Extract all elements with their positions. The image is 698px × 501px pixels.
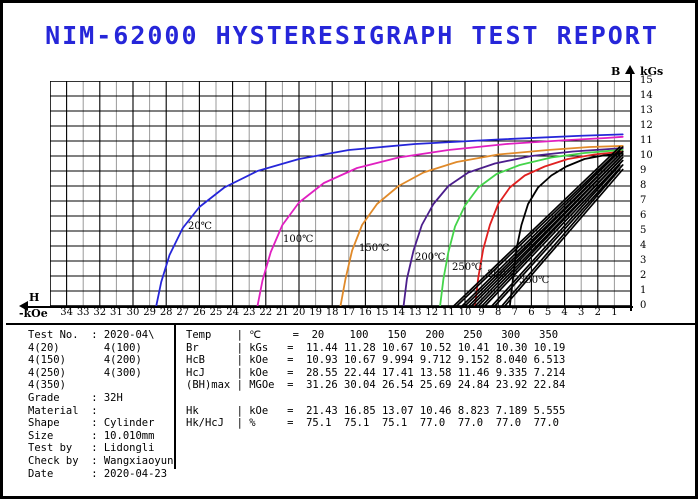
result-row-hcb: HcB | kOe = 10.93 10.67 9.994 9.712 9.15…	[186, 354, 577, 367]
curve-label-5: 300℃	[487, 269, 517, 280]
result-row-hkhcj: Hk/HcJ | % = 75.1 75.1 75.1 77.0 77.0 77…	[186, 417, 577, 430]
y-tick-8: 8	[640, 180, 646, 191]
x-axis-unit-label: -kOe	[19, 307, 48, 320]
x-tick-33: 33	[74, 307, 92, 318]
y-tick-3: 3	[640, 255, 646, 266]
info-row-11: Date : 2020-04-23	[28, 468, 173, 481]
x-tick-9: 9	[473, 307, 491, 318]
y-tick-2: 2	[640, 270, 646, 281]
info-row-6: Material :	[28, 405, 173, 418]
y-tick-12: 12	[640, 120, 653, 131]
x-tick-28: 28	[157, 307, 175, 318]
x-tick-5: 5	[539, 307, 557, 318]
y-tick-15: 15	[640, 75, 653, 86]
result-row-hcj: HcJ | kOe = 28.55 22.44 17.41 13.58 11.4…	[186, 367, 577, 380]
x-tick-15: 15	[373, 307, 391, 318]
x-tick-34: 34	[58, 307, 76, 318]
x-tick-25: 25	[207, 307, 225, 318]
x-tick-31: 31	[107, 307, 125, 318]
y-tick-0: 0	[640, 300, 646, 311]
y-axis-label: B	[611, 65, 620, 78]
curve-label-3: 200℃	[415, 252, 445, 263]
info-row-7: Shape : Cylinder	[28, 417, 173, 430]
y-tick-1: 1	[640, 285, 646, 296]
result-row-spacer	[186, 392, 577, 405]
y-tick-13: 13	[640, 105, 653, 116]
chart-curves	[50, 81, 631, 306]
y-tick-14: 14	[640, 90, 653, 101]
x-tick-1: 1	[605, 307, 623, 318]
x-tick-11: 11	[439, 307, 457, 318]
x-tick-6: 6	[522, 307, 540, 318]
magnetic-results-table: Temp | ℃ = 20 100 150 200 250 300 350 Br…	[186, 329, 577, 430]
y-axis-line	[630, 73, 632, 311]
info-row-1: 4(20) 4(100)	[28, 342, 173, 355]
info-row-8: Size : 10.010mm	[28, 430, 173, 443]
result-row-bhmax: (BH)max | MGOe = 31.26 30.04 26.54 25.69…	[186, 379, 577, 392]
hysteresis-chart	[50, 81, 631, 306]
x-tick-21: 21	[273, 307, 291, 318]
y-axis-arrow-icon	[625, 65, 635, 74]
x-tick-4: 4	[556, 307, 574, 318]
y-tick-7: 7	[640, 195, 646, 206]
x-tick-16: 16	[356, 307, 374, 318]
x-tick-20: 20	[290, 307, 308, 318]
curve-label-2: 150℃	[359, 243, 389, 254]
x-tick-14: 14	[390, 307, 408, 318]
y-tick-4: 4	[640, 240, 646, 251]
curve-label-6: 350℃	[519, 275, 549, 286]
curve-label-0: 20℃	[188, 221, 212, 232]
x-tick-32: 32	[91, 307, 109, 318]
report-data-panel: Test No. : 2020-04\4(20) 4(100)4(150) 4(…	[6, 323, 698, 501]
info-row-4: 4(350)	[28, 379, 173, 392]
x-tick-27: 27	[174, 307, 192, 318]
x-tick-22: 22	[257, 307, 275, 318]
panel-divider	[174, 325, 176, 469]
info-row-9: Test by : Lidongli	[28, 442, 173, 455]
info-row-2: 4(150) 4(200)	[28, 354, 173, 367]
x-tick-18: 18	[323, 307, 341, 318]
y-tick-6: 6	[640, 210, 646, 221]
x-tick-8: 8	[489, 307, 507, 318]
sample-info-list: Test No. : 2020-04\4(20) 4(100)4(150) 4(…	[28, 329, 173, 480]
x-tick-24: 24	[224, 307, 242, 318]
y-tick-10: 10	[640, 150, 653, 161]
curve-label-4: 250℃	[452, 262, 482, 273]
x-tick-12: 12	[423, 307, 441, 318]
result-row-hk: Hk | kOe = 21.43 16.85 13.07 10.46 8.823…	[186, 405, 577, 418]
y-tick-11: 11	[640, 135, 653, 146]
x-tick-30: 30	[124, 307, 142, 318]
result-row-temp: Temp | ℃ = 20 100 150 200 250 300 350	[186, 329, 577, 342]
curve-label-1: 100℃	[283, 234, 313, 245]
x-tick-7: 7	[506, 307, 524, 318]
x-tick-17: 17	[340, 307, 358, 318]
x-tick-3: 3	[572, 307, 590, 318]
x-axis-label: H	[29, 291, 39, 304]
x-tick-10: 10	[456, 307, 474, 318]
report-page: NIM-62000 HYSTERESIGRAPH TEST REPORT B k…	[0, 0, 698, 499]
info-row-3: 4(250) 4(300)	[28, 367, 173, 380]
page-title: NIM-62000 HYSTERESIGRAPH TEST REPORT	[3, 21, 698, 50]
x-tick-2: 2	[589, 307, 607, 318]
x-tick-29: 29	[141, 307, 159, 318]
info-row-10: Check by : Wangxiaoyun	[28, 455, 173, 468]
result-row-br: Br | kGs = 11.44 11.28 10.67 10.52 10.41…	[186, 342, 577, 355]
info-row-5: Grade : 32H	[28, 392, 173, 405]
y-tick-5: 5	[640, 225, 646, 236]
x-tick-13: 13	[406, 307, 424, 318]
info-row-0: Test No. : 2020-04\	[28, 329, 173, 342]
y-tick-9: 9	[640, 165, 646, 176]
x-tick-23: 23	[240, 307, 258, 318]
x-tick-26: 26	[190, 307, 208, 318]
x-tick-19: 19	[307, 307, 325, 318]
